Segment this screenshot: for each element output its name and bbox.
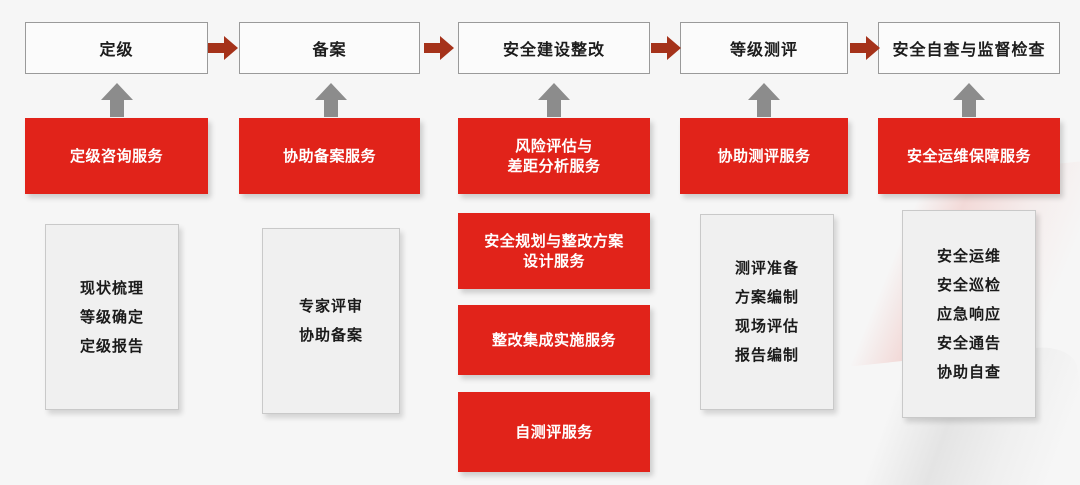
right-arrow-icon-2 [424,35,454,61]
right-arrow-icon-1 [208,35,238,61]
detail-box-5[interactable]: 安全运维 安全巡检 应急响应 安全通告 协助自查 [902,210,1036,418]
stage-label: 备案 [312,36,346,60]
service-box-lines: 自测评服务 [509,422,599,442]
stage-box-4[interactable]: 等级测评 [680,22,848,74]
service-line: 差距分析服务 [507,156,600,176]
service-line: 定级咨询服务 [70,146,163,166]
service-box-3-4[interactable]: 自测评服务 [458,392,650,472]
stage-box-1[interactable]: 定级 [25,22,208,74]
detail-item: 现状梳理 [80,274,144,303]
service-box-5-1[interactable]: 安全运维保障服务 [878,118,1060,194]
service-line: 设计服务 [484,251,624,271]
detail-item: 协助备案 [299,321,363,350]
detail-box-4[interactable]: 测评准备 方案编制 现场评估 报告编制 [700,214,834,410]
stage-box-2[interactable]: 备案 [239,22,420,74]
service-box-lines: 整改集成实施服务 [486,330,622,350]
detail-item: 协助自查 [937,358,1001,387]
detail-item: 安全运维 [937,242,1001,271]
up-arrow-icon-5 [953,83,985,117]
detail-item: 安全通告 [937,329,1001,358]
service-box-3-2[interactable]: 安全规划与整改方案 设计服务 [458,213,650,289]
service-box-lines: 协助备案服务 [277,146,382,166]
detail-box-2[interactable]: 专家评审 协助备案 [262,228,400,414]
right-arrow-icon-3 [651,35,681,61]
service-box-2-1[interactable]: 协助备案服务 [239,118,420,194]
service-line: 协助备案服务 [283,146,376,166]
up-arrow-icon-4 [748,83,780,117]
service-box-lines: 安全运维保障服务 [901,146,1037,166]
stage-label: 等级测评 [730,36,798,60]
detail-item: 现场评估 [735,312,799,341]
service-line: 安全运维保障服务 [907,146,1031,166]
detail-item: 等级确定 [80,303,144,332]
right-arrow-icon-4 [850,35,880,61]
service-box-lines: 定级咨询服务 [64,146,169,166]
service-box-4-1[interactable]: 协助测评服务 [680,118,848,194]
service-box-lines: 安全规划与整改方案 设计服务 [478,231,630,272]
up-arrow-icon-2 [315,83,347,117]
detail-item: 测评准备 [735,254,799,283]
service-box-1-1[interactable]: 定级咨询服务 [25,118,208,194]
service-box-lines: 风险评估与 差距分析服务 [501,136,606,177]
service-line: 风险评估与 [507,136,600,156]
service-box-lines: 协助测评服务 [711,146,816,166]
detail-box-1[interactable]: 现状梳理 等级确定 定级报告 [45,224,179,410]
up-arrow-icon-3 [538,83,570,117]
detail-item: 方案编制 [735,283,799,312]
service-line: 协助测评服务 [717,146,810,166]
detail-item: 应急响应 [937,300,1001,329]
service-line: 自测评服务 [515,422,593,442]
detail-item: 安全巡检 [937,271,1001,300]
stage-label: 安全自查与监督检查 [892,36,1045,60]
detail-item: 定级报告 [80,332,144,361]
stage-box-5[interactable]: 安全自查与监督检查 [878,22,1060,74]
stage-box-3[interactable]: 安全建设整改 [458,22,650,74]
detail-item: 报告编制 [735,341,799,370]
service-line: 安全规划与整改方案 [484,231,624,251]
detail-item: 专家评审 [299,292,363,321]
service-box-3-1[interactable]: 风险评估与 差距分析服务 [458,118,650,194]
service-box-3-3[interactable]: 整改集成实施服务 [458,305,650,375]
service-line: 整改集成实施服务 [492,330,616,350]
up-arrow-icon-1 [101,83,133,117]
stage-label: 安全建设整改 [503,36,605,60]
diagram-canvas: 定级 备案 安全建设整改 等级测评 安全自查与监督检查 定 [0,0,1080,485]
stage-label: 定级 [99,36,133,60]
